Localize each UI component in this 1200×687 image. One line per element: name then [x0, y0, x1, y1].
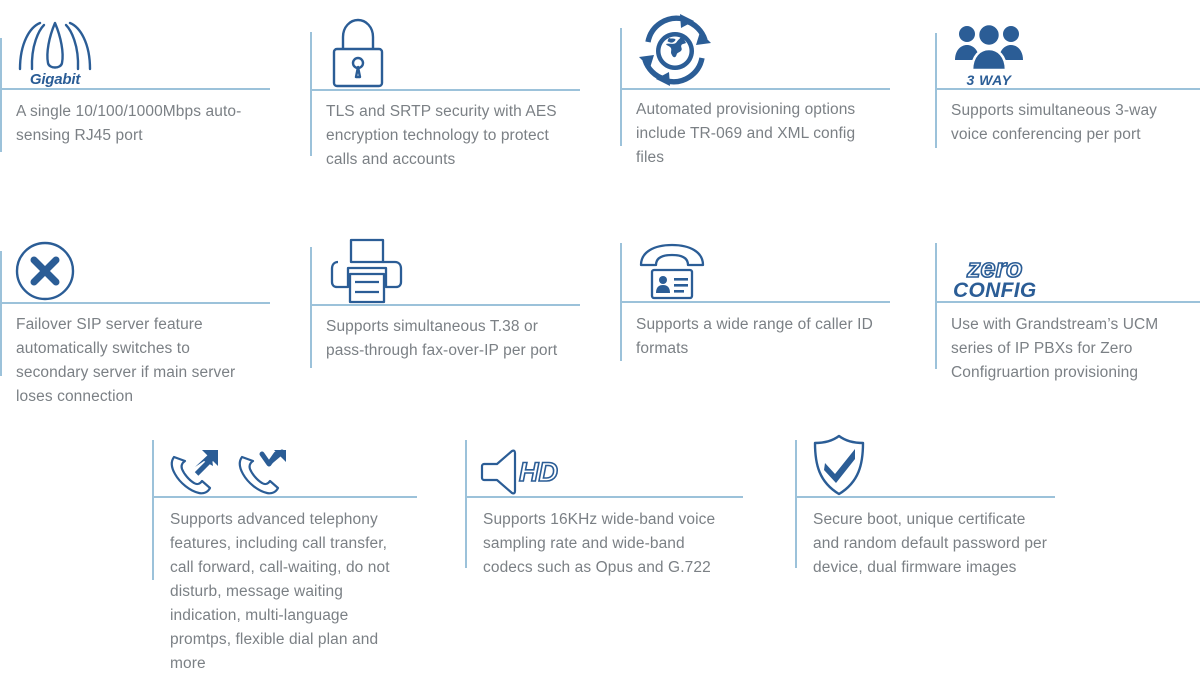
- zero-config-word-zero: zero: [967, 256, 1023, 280]
- feature-card-three-way-conferencing: 3 WAY Supports simultaneous 3-way voice …: [935, 33, 1200, 183]
- feature-description: Supports advanced telephony features, in…: [170, 508, 395, 676]
- icon-area: [811, 402, 941, 496]
- call-outgoing-icon: [168, 448, 220, 496]
- icon-area: [330, 211, 450, 304]
- card-vertical-rule: [310, 247, 312, 368]
- feature-card-fax-over-ip: Supports simultaneous T.38 or pass-throu…: [310, 247, 580, 397]
- globe-refresh-icon: [636, 12, 714, 88]
- card-horizontal-rule: [0, 88, 270, 90]
- feature-card-zero-config: zero CONFIG Use with Grandstream’s UCM s…: [935, 243, 1200, 403]
- icon-area: [14, 210, 134, 302]
- feature-description: Use with Grandstream’s UCM series of IP …: [951, 313, 1191, 385]
- card-horizontal-rule: [935, 88, 1200, 90]
- card-horizontal-rule: [0, 302, 270, 304]
- three-people-icon: [953, 22, 1025, 72]
- feature-card-failover-sip-server: Failover SIP server feature automaticall…: [0, 251, 270, 411]
- feature-card-secure-boot: Secure boot, unique certificate and rand…: [795, 440, 1055, 610]
- feature-card-gigabit-port: Gigabit A single 10/100/1000Mbps auto-se…: [0, 38, 270, 188]
- icon-area: HD: [481, 408, 631, 496]
- card-vertical-rule: [0, 38, 2, 152]
- zero-config-word-config: CONFIG: [953, 280, 1036, 301]
- feature-description: Supports simultaneous T.38 or pass-throu…: [326, 315, 571, 363]
- feature-card-caller-id-formats: Supports a wide range of caller ID forma…: [620, 243, 890, 383]
- padlock-icon: [328, 17, 388, 89]
- fax-printer-icon: [330, 238, 402, 304]
- card-horizontal-rule: [310, 304, 580, 306]
- icon-area: [168, 402, 328, 496]
- zero-config-logo-icon: zero CONFIG: [953, 256, 1036, 301]
- x-circle-icon: [14, 240, 76, 302]
- gigabit-antenna-icon: [14, 21, 96, 73]
- card-horizontal-rule: [620, 88, 890, 90]
- card-vertical-rule: [795, 440, 797, 568]
- card-vertical-rule: [310, 32, 312, 156]
- feature-description: Supports 16KHz wide-band voice sampling …: [483, 508, 718, 580]
- card-vertical-rule: [935, 33, 937, 148]
- feature-card-tls-srtp-security: TLS and SRTP security with AES encryptio…: [310, 32, 580, 192]
- card-horizontal-rule: [465, 496, 743, 498]
- call-forward-icon: [236, 448, 288, 496]
- feature-description: Supports a wide range of caller ID forma…: [636, 313, 881, 361]
- call-transfer-forward-icons: [168, 448, 288, 496]
- phone-handset-id-card-icon: [638, 243, 706, 301]
- card-vertical-rule: [152, 440, 154, 580]
- card-horizontal-rule: [620, 301, 890, 303]
- card-vertical-rule: [620, 28, 622, 146]
- card-vertical-rule: [935, 243, 937, 369]
- feature-description: Automated provisioning options include T…: [636, 98, 882, 170]
- feature-card-advanced-telephony: Supports advanced telephony features, in…: [152, 440, 417, 680]
- card-horizontal-rule: [310, 89, 580, 91]
- icon-area: [328, 0, 458, 89]
- card-horizontal-rule: [152, 496, 417, 498]
- feature-card-automated-provisioning: Automated provisioning options include T…: [620, 28, 890, 178]
- hd-speaker-icon: HD: [481, 448, 563, 496]
- three-way-badge-label: 3 WAY: [966, 72, 1011, 88]
- card-horizontal-rule: [795, 496, 1055, 498]
- icon-area: 3 WAY: [953, 0, 1093, 88]
- icon-area: [636, 0, 766, 88]
- shield-check-icon: [811, 434, 867, 496]
- card-vertical-rule: [465, 440, 467, 568]
- gigabit-badge-label: Gigabit: [30, 71, 80, 88]
- feature-card-hd-wideband-voice: HD Supports 16KHz wide-band voice sampli…: [465, 440, 743, 610]
- svg-text:HD: HD: [519, 457, 558, 487]
- feature-description: Supports simultaneous 3-way voice confer…: [951, 99, 1191, 147]
- feature-description: TLS and SRTP security with AES encryptio…: [326, 100, 571, 172]
- icon-area: zero CONFIG: [953, 210, 1103, 301]
- feature-description: Failover SIP server feature automaticall…: [16, 313, 261, 409]
- card-vertical-rule: [0, 251, 2, 376]
- feature-grid-board: Gigabit A single 10/100/1000Mbps auto-se…: [0, 0, 1200, 687]
- icon-area: Gigabit: [14, 0, 164, 88]
- icon-area: [638, 218, 758, 301]
- feature-description: A single 10/100/1000Mbps auto-sensing RJ…: [16, 100, 256, 148]
- feature-description: Secure boot, unique certificate and rand…: [813, 508, 1053, 580]
